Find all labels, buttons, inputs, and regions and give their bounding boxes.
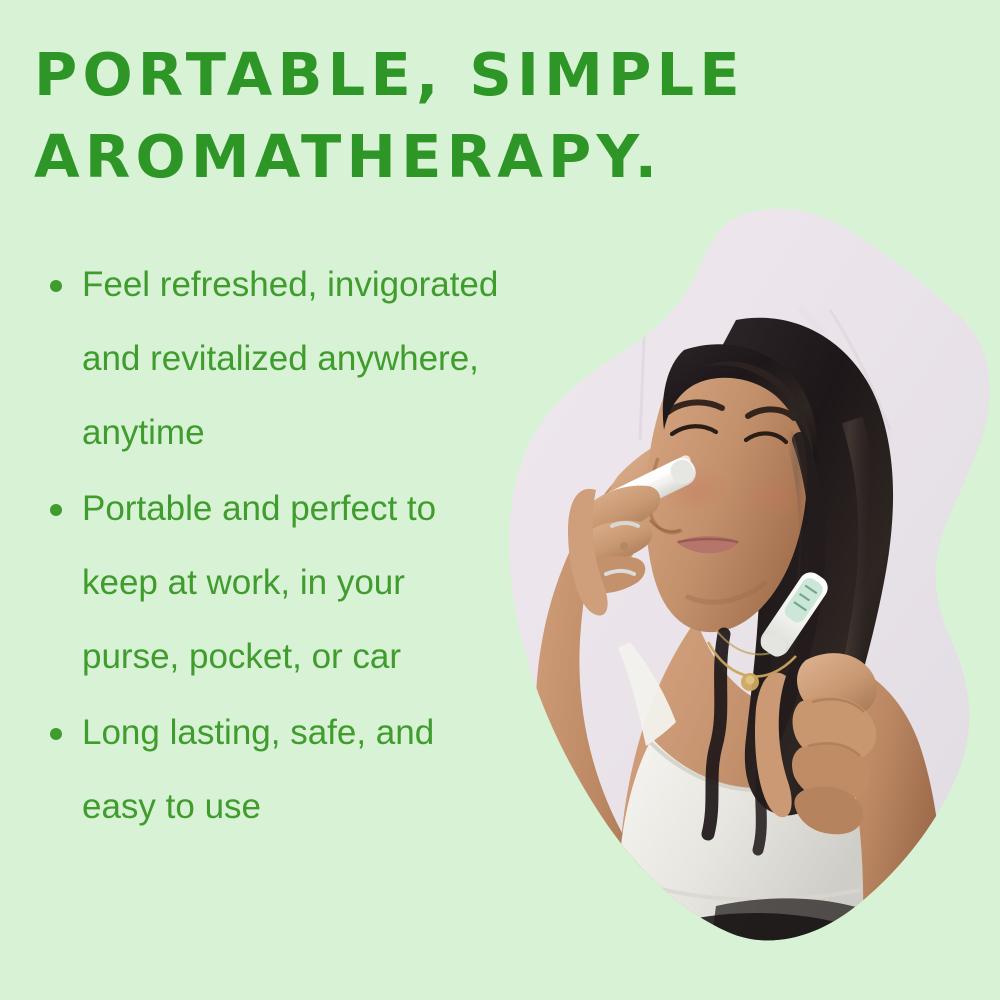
headline-line-2: AROMATHERAPY. <box>34 116 734 198</box>
page-title: PORTABLE, SIMPLE AROMATHERAPY. <box>34 34 734 198</box>
bullet-dot-icon <box>50 280 62 292</box>
list-item-label: Feel refreshed, invigorated and revitali… <box>82 265 498 452</box>
list-item: Long lasting, safe, and easy to use <box>36 696 506 844</box>
list-item: Portable and perfect to keep at work, in… <box>36 472 506 694</box>
list-item-label: Portable and perfect to keep at work, in… <box>82 489 436 676</box>
jeans <box>886 886 1000 950</box>
photo-content <box>500 190 1000 950</box>
benefits-list: Feel refreshed, invigorated and revitali… <box>36 248 506 846</box>
photo-svg <box>500 190 1000 950</box>
bullet-dot-icon <box>50 504 62 516</box>
promo-graphic: PORTABLE, SIMPLE AROMATHERAPY. Feel refr… <box>0 0 1000 1000</box>
list-item-label: Long lasting, safe, and easy to use <box>82 713 434 826</box>
list-item: Feel refreshed, invigorated and revitali… <box>36 248 506 470</box>
headline-line-1: PORTABLE, SIMPLE <box>34 34 734 116</box>
product-lifestyle-photo <box>500 190 1000 950</box>
bullet-dot-icon <box>50 728 62 740</box>
